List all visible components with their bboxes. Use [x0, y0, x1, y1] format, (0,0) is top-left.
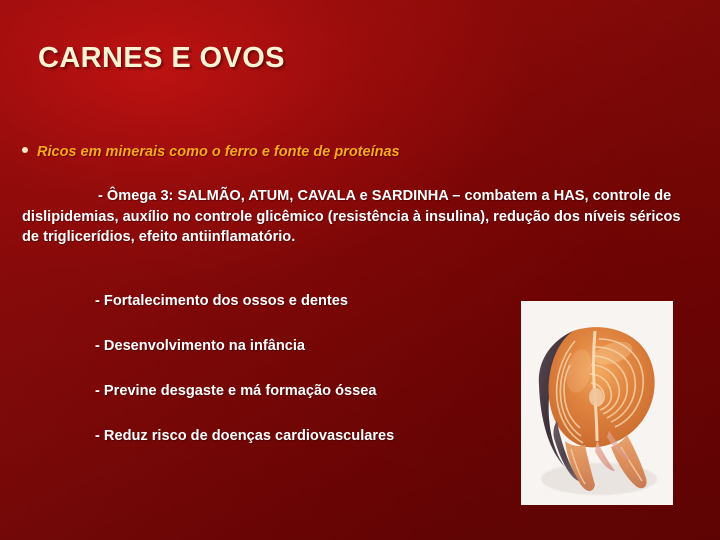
bullet-dot-icon	[22, 147, 28, 153]
list-item: - Previne desgaste e má formação óssea	[95, 382, 515, 400]
list-item: - Fortalecimento dos ossos e dentes	[95, 292, 515, 310]
list-item: - Desenvolvimento na infância	[95, 337, 515, 355]
lead-bullet-label: Ricos em minerais como o ferro e fonte d…	[37, 144, 400, 160]
lead-bullet-item: Ricos em minerais como o ferro e fonte d…	[22, 144, 662, 160]
omega3-paragraph: - Ômega 3: SALMÃO, ATUM, CAVALA e SARDIN…	[22, 186, 698, 248]
presentation-slide: CARNES E OVOS Ricos em minerais como o f…	[0, 0, 720, 540]
list-item: - Reduz risco de doenças cardiovasculare…	[95, 427, 515, 445]
salmon-steak-photo	[521, 301, 673, 505]
benefits-list: - Fortalecimento dos ossos e dentes - De…	[95, 292, 515, 445]
